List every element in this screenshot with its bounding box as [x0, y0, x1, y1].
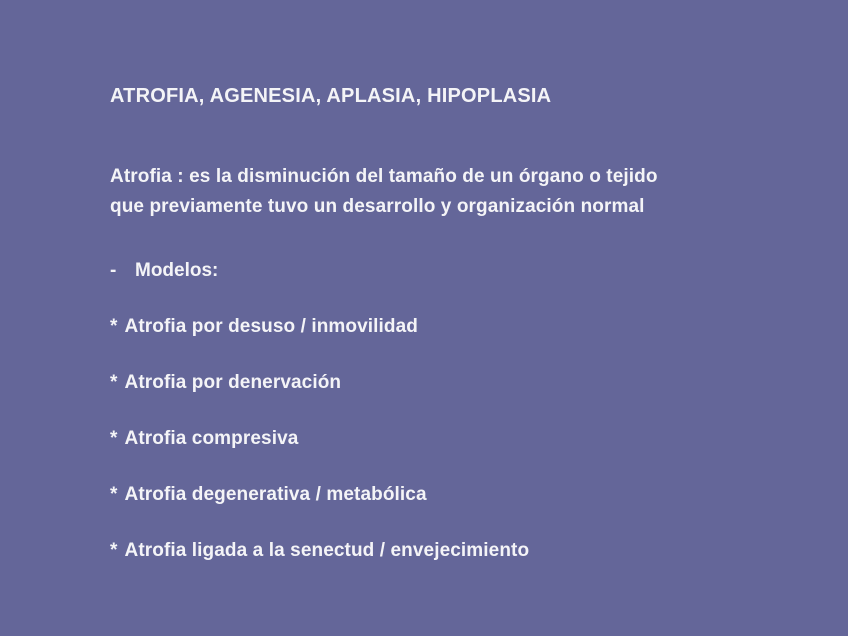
definition-line-2: que previamente tuvo un desarrollo y org…: [110, 192, 740, 222]
dash-marker: -: [110, 258, 135, 284]
list-item: * Atrofia degenerativa / metabólica: [110, 482, 824, 508]
list-item: * Atrofia compresiva: [110, 426, 824, 452]
list-item-label: Atrofia por denervación: [125, 370, 342, 396]
list-item: * Atrofia ligada a la senectud / envejec…: [110, 538, 824, 564]
atrophy-types-list: * Atrofia por desuso / inmovilidad * Atr…: [110, 314, 824, 564]
definition-paragraph: Atrofia : es la disminución del tamaño d…: [110, 162, 740, 222]
asterisk-icon: *: [110, 314, 118, 340]
models-heading: - Modelos:: [110, 258, 824, 284]
definition-line-1: Atrofia : es la disminución del tamaño d…: [110, 162, 740, 192]
list-item: * Atrofia por denervación: [110, 370, 824, 396]
asterisk-icon: *: [110, 370, 118, 396]
list-item: * Atrofia por desuso / inmovilidad: [110, 314, 824, 340]
asterisk-icon: *: [110, 426, 118, 452]
asterisk-icon: *: [110, 482, 118, 508]
list-item-label: Atrofia compresiva: [125, 426, 299, 452]
slide-content: ATROFIA, AGENESIA, APLASIA, HIPOPLASIA A…: [110, 84, 824, 564]
models-label: Modelos:: [135, 258, 218, 284]
slide-canvas: ATROFIA, AGENESIA, APLASIA, HIPOPLASIA A…: [0, 0, 848, 636]
list-item-label: Atrofia degenerativa / metabólica: [125, 482, 427, 508]
asterisk-icon: *: [110, 538, 118, 564]
list-item-label: Atrofia por desuso / inmovilidad: [125, 314, 419, 340]
list-item-label: Atrofia ligada a la senectud / envejecim…: [125, 538, 530, 564]
page-title: ATROFIA, AGENESIA, APLASIA, HIPOPLASIA: [110, 84, 824, 108]
